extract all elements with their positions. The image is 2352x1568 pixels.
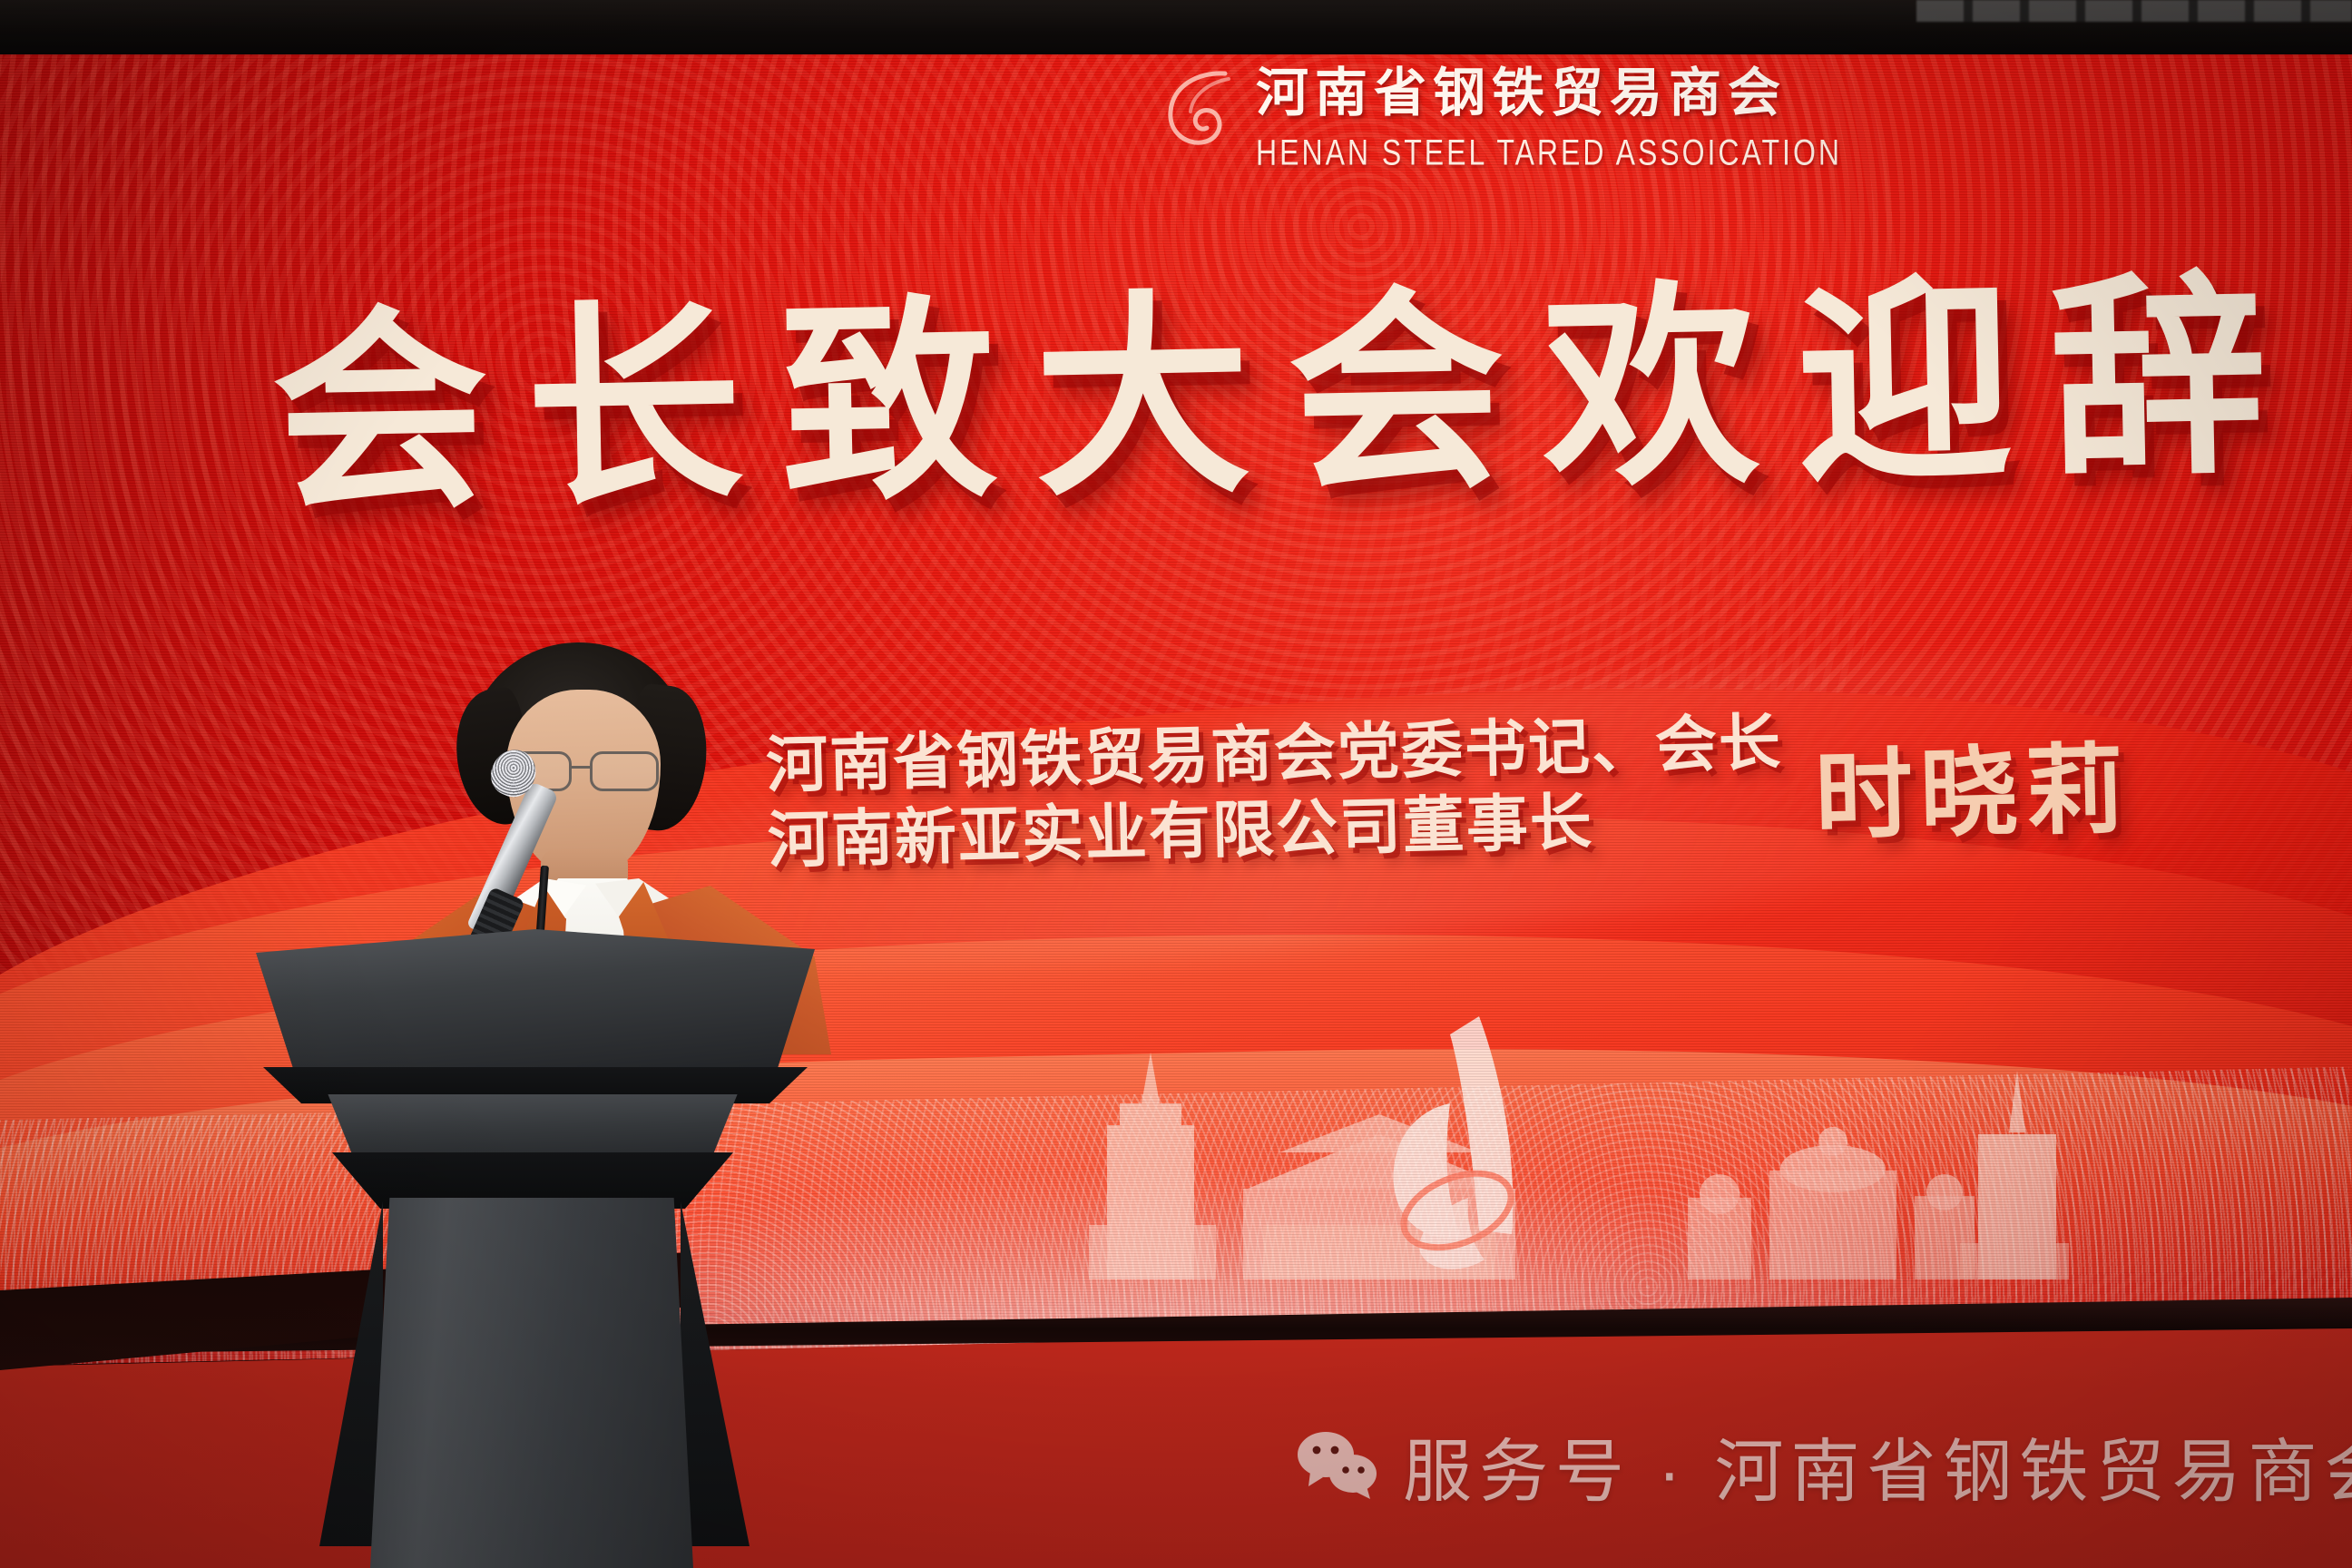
- zhengzhou-skyline-icon: [1053, 1016, 2069, 1316]
- wechat-icon: [1296, 1430, 1383, 1501]
- ceiling-band: [0, 0, 2352, 54]
- podium-column: [370, 1198, 693, 1568]
- podium: [236, 926, 871, 1568]
- wechat-watermark: 服务号 · 河南省钢铁贸易商会: [1296, 1416, 2352, 1515]
- podium-top-surface: [256, 929, 815, 1074]
- podium-base-left: [319, 1201, 383, 1546]
- stage-photo: 河南省钢铁贸易商会 HENAN STEEL TARED ASSOICATION …: [0, 0, 2352, 1568]
- swirl-logo-icon: [1161, 64, 1240, 152]
- association-brand-lockup: 河南省钢铁贸易商会 HENAN STEEL TARED ASSOICATION: [1161, 50, 1842, 165]
- backdrop-subtitle: 河南省钢铁贸易商会党委书记、会长 河南新亚实业有限公司董事长: [765, 705, 1784, 878]
- glasses-bridge: [572, 766, 590, 769]
- glasses-lens-right: [590, 751, 659, 791]
- wechat-watermark-text: 服务号 · 河南省钢铁贸易商会: [1403, 1416, 2352, 1515]
- podium-base-right: [681, 1201, 750, 1546]
- brand-name-cn: 河南省钢铁贸易商会: [1256, 50, 1842, 126]
- ceiling-tiles: [1916, 0, 2352, 22]
- brand-name-en: HENAN STEEL TARED ASSOICATION: [1256, 132, 1842, 173]
- backdrop-title: 会长致大会欢迎辞: [270, 271, 2307, 526]
- backdrop-speaker-name: 时晓莉: [1814, 740, 2131, 846]
- podium-mid-band: [319, 1094, 746, 1158]
